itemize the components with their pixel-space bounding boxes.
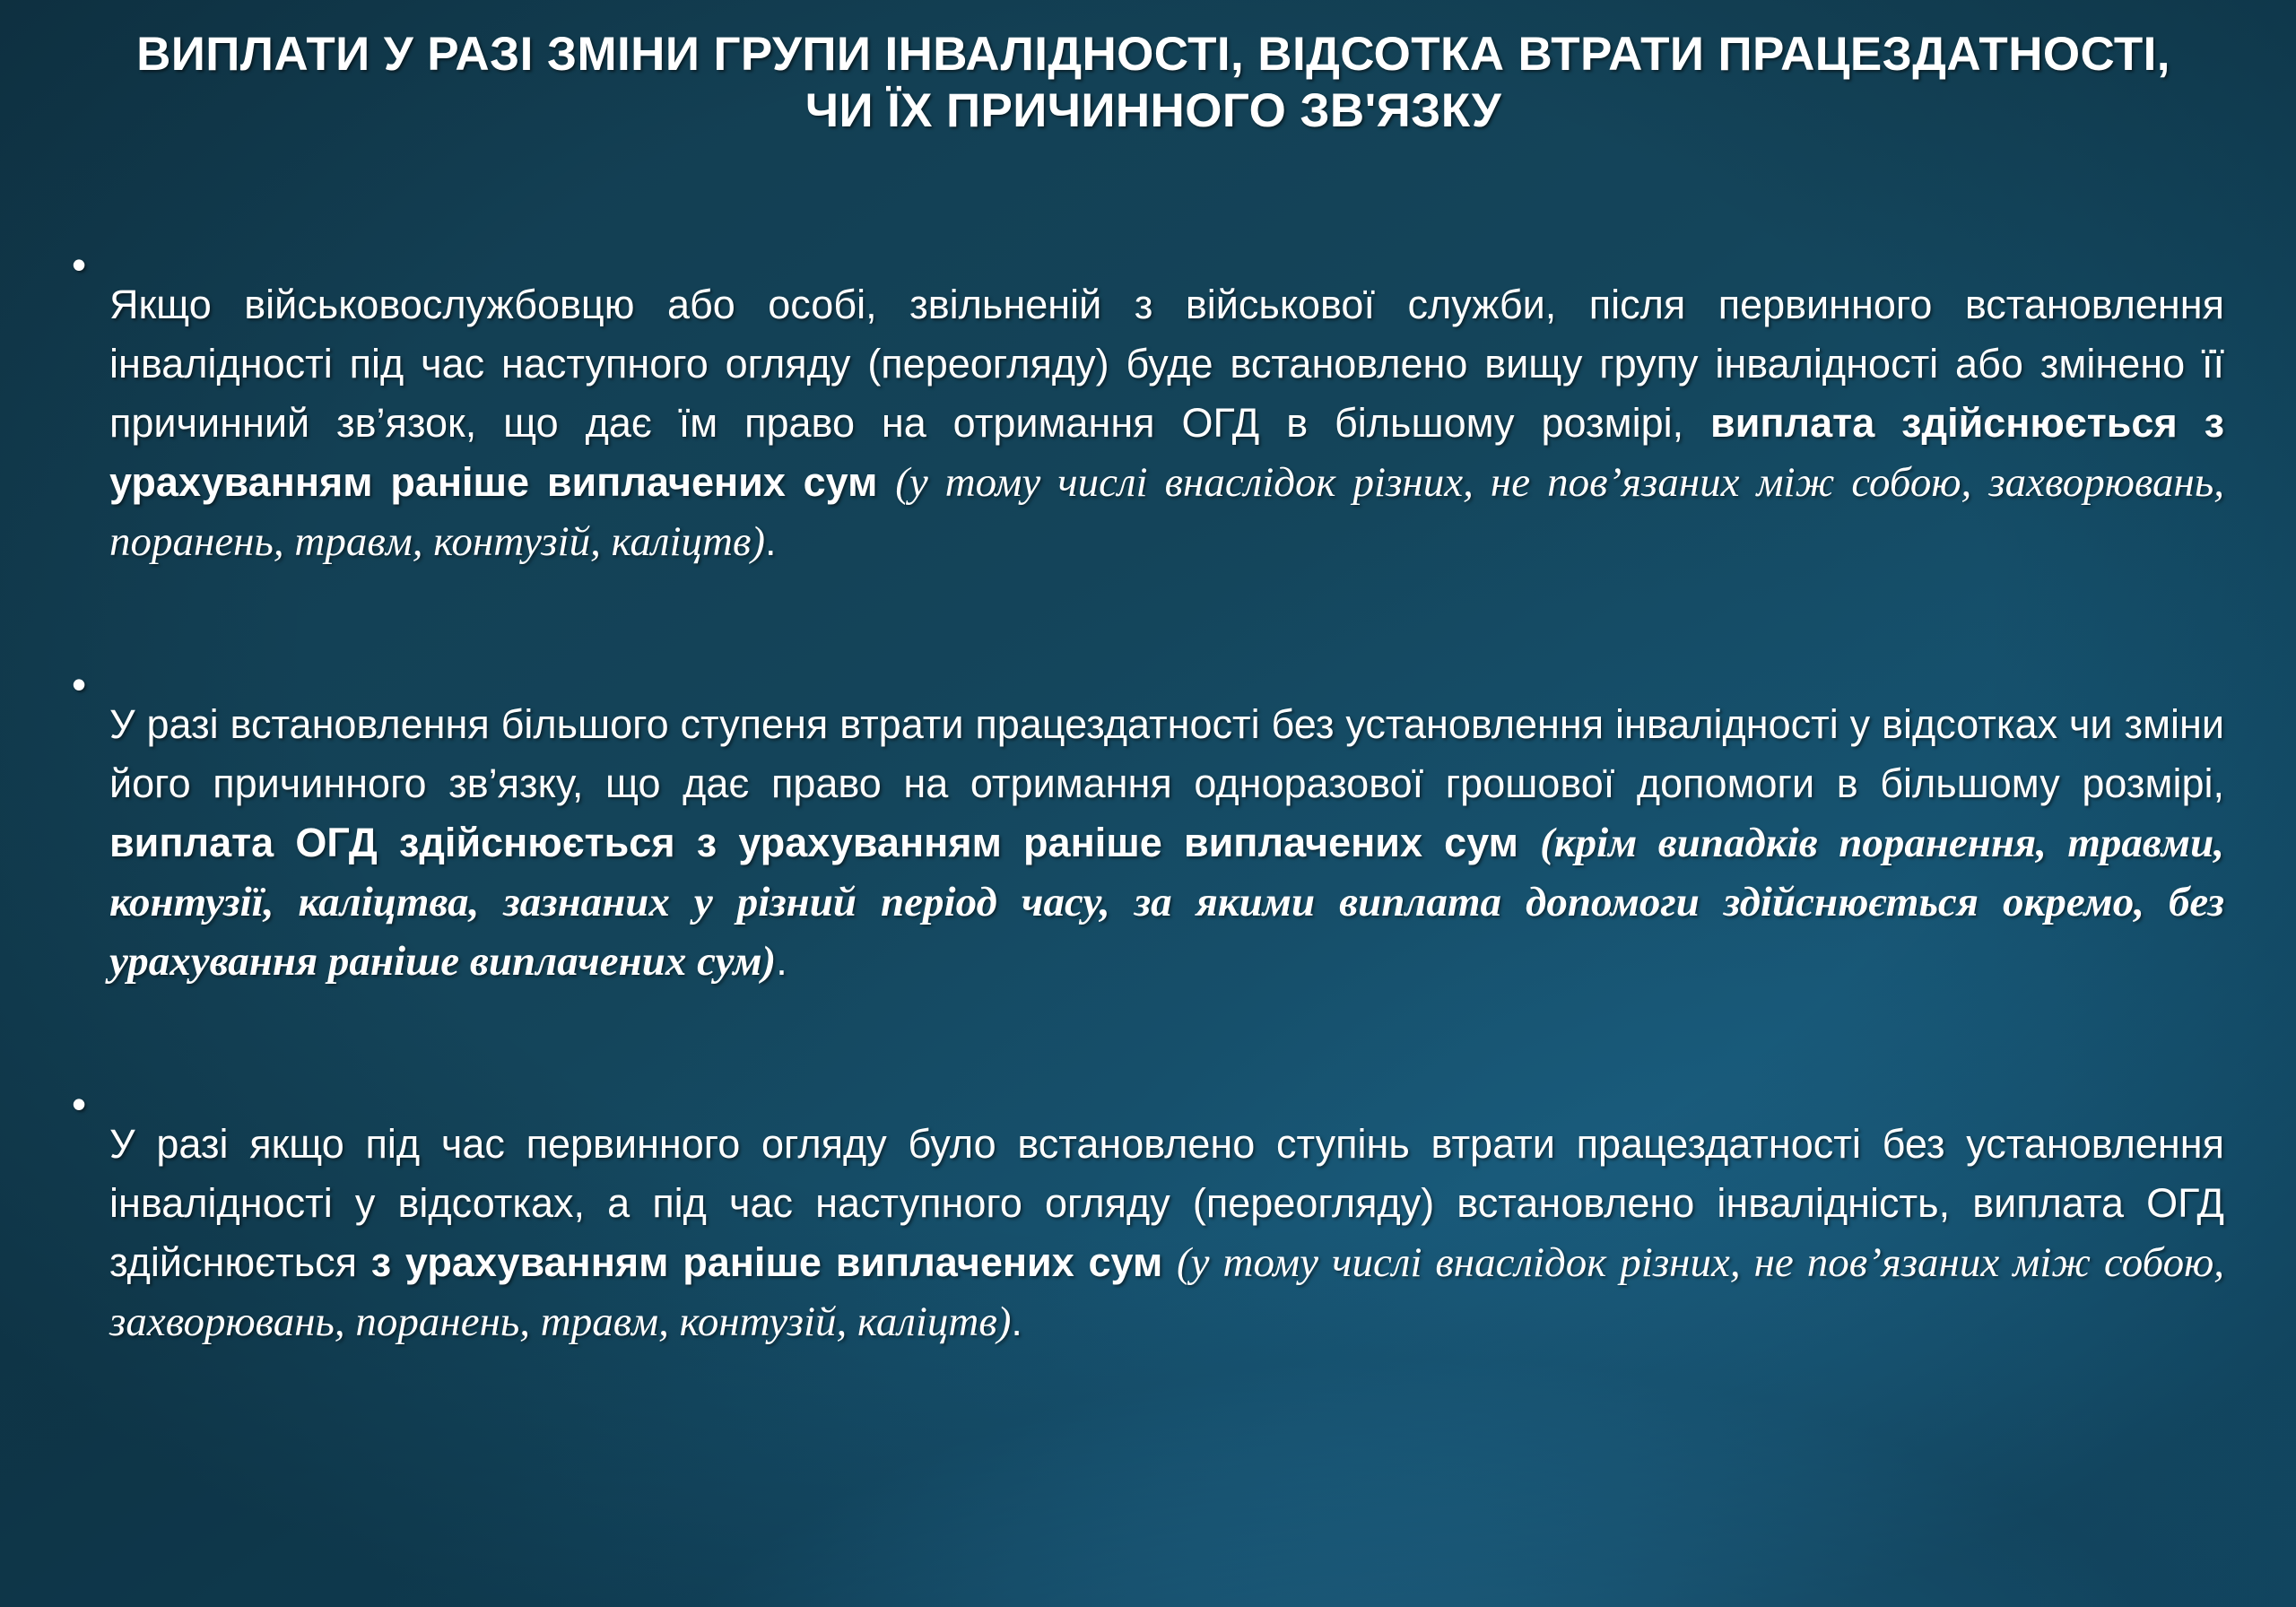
bullet-paragraph-3: У разі якщо під час первинного огляду бу… — [109, 1115, 2224, 1351]
text-run-normal — [1162, 1239, 1177, 1285]
slide-title-line-1: ВИПЛАТИ У РАЗІ ЗМІНИ ГРУПИ ІНВАЛІДНОСТІ,… — [106, 27, 2201, 83]
text-run-normal: . — [776, 938, 787, 984]
list-item: • У разі якщо під час первинного огляду … — [72, 1074, 2224, 1392]
presentation-slide: ВИПЛАТИ У РАЗІ ЗМІНИ ГРУПИ ІНВАЛІДНОСТІ,… — [0, 0, 2296, 1607]
slide-title: ВИПЛАТИ У РАЗІ ЗМІНИ ГРУПИ ІНВАЛІДНОСТІ,… — [106, 27, 2201, 139]
list-item: • У разі встановлення більшого ступеня в… — [72, 655, 2224, 1031]
bullet-paragraph-2: У разі встановлення більшого ступеня втр… — [109, 695, 2224, 991]
bullet-marker-icon: • — [72, 1074, 109, 1134]
text-run-bold: з урахуванням раніше виплачених сум — [371, 1239, 1162, 1285]
bullet-paragraph-1: Якщо військовослужбовцю або особі, звіль… — [109, 275, 2224, 571]
text-run-normal: У разі встановлення більшого ступеня втр… — [109, 701, 2224, 806]
text-run-normal — [877, 459, 895, 505]
list-item: • Якщо військовослужбовцю або особі, зві… — [72, 235, 2224, 612]
bullet-marker-icon: • — [72, 235, 109, 294]
bullet-marker-icon: • — [72, 655, 109, 714]
text-run-normal: . — [765, 518, 777, 564]
slide-content: ВИПЛАТИ У РАЗІ ЗМІНИ ГРУПИ ІНВАЛІДНОСТІ,… — [0, 0, 2296, 1607]
slide-body: • Якщо військовослужбовцю або особі, зві… — [72, 235, 2224, 1392]
text-run-normal: . — [1011, 1299, 1022, 1344]
slide-title-line-2: ЧИ ЇХ ПРИЧИННОГО ЗВ'ЯЗКУ — [106, 83, 2201, 140]
text-run-bold: виплата ОГД здійснюється з урахуванням р… — [109, 820, 1540, 865]
